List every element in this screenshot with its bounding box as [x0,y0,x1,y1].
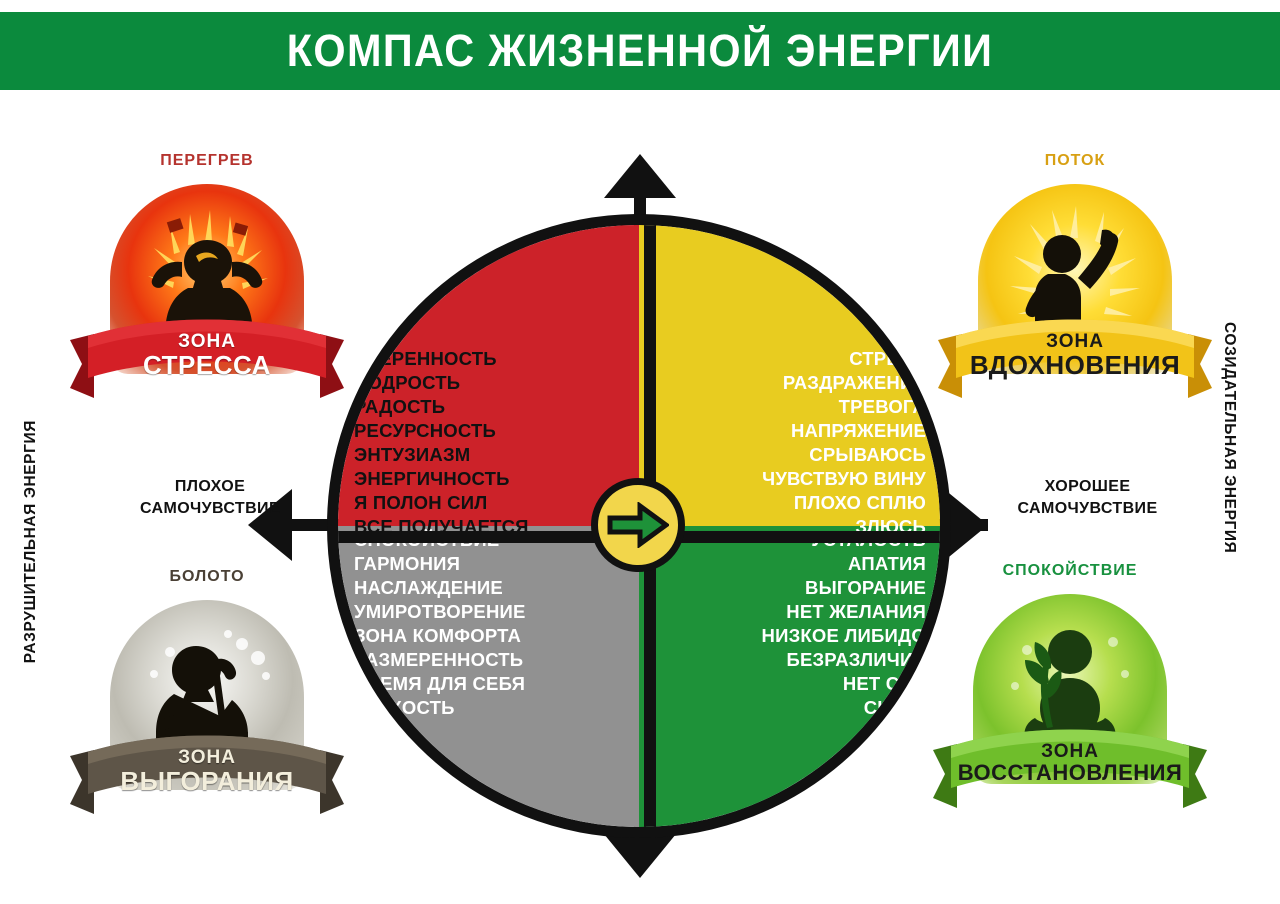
green-right-arrow-icon [607,502,669,548]
badge-graphic-recovery: ЗОНА ВОССТАНОВЛЕНИЯ [925,588,1215,818]
ribbon-recovery: ЗОНА ВОССТАНОВЛЕНИЯ [931,724,1209,816]
list-item: НАПРЯЖЕНИЕ [762,419,926,443]
badge-stress: ПЕРЕГРЕВ [62,152,352,408]
badge-caption-overheat: ПЕРЕГРЕВ [62,152,352,170]
badge-graphic-stress: ЗОНА СТРЕССА [62,178,352,408]
list-item: БОДРОСТЬ [354,371,529,395]
axis-label-destructive-energy: РАЗРУШИТЕЛЬНАЯ ЭНЕРГИЯ [22,420,40,663]
list-item: СРЫВАЮСЬ [762,443,926,467]
badge-inspiration: ПОТОК [930,152,1220,408]
badge-caption-calm: СПОКОЙСТВИЕ [925,562,1215,580]
word-list-recovery: СПОКОЙСТВИЕ ГАРМОНИЯ НАСЛАЖДЕНИЕ УМИРОТВ… [354,528,526,720]
list-item: АПАТИЯ [762,552,926,576]
axis-end-bad-line2: САМОЧУВСТВИЕ [130,498,290,520]
axis-end-good-line1: ХОРОШЕЕ [1000,476,1175,498]
list-item: СТРЕСС [762,347,926,371]
list-item: УМИРОТВОРЕНИЕ [354,600,526,624]
badge-burnout: БОЛОТО [62,568,352,824]
badge-graphic-burnout: ЗОНА ВЫГОРАНИЯ [62,594,352,824]
axis-end-good-line2: САМОЧУВСТВИЕ [1000,498,1175,520]
ribbon-burnout: ЗОНА ВЫГОРАНИЯ [68,730,346,822]
list-item: ЭНЕРГИЧНОСТЬ [354,467,529,491]
list-item: СКУКА [762,696,926,720]
center-hub [591,478,685,572]
list-item: НАСЛАЖДЕНИЕ [354,576,526,600]
list-item: НЕТ ЖЕЛАНИЯ [762,600,926,624]
word-list-stress: СТРЕСС РАЗДРАЖЕНИЕ ТРЕВОГА НАПРЯЖЕНИЕ СР… [762,347,926,539]
axis-end-label-bad: ПЛОХОЕ САМОЧУВСТВИЕ [130,476,290,519]
list-item: ЛЕГКОСТЬ [354,696,526,720]
list-item: ЗОНА КОМФОРТА [354,624,526,648]
list-item: Я ПОЛОН СИЛ [354,491,529,515]
header-banner: КОМПАС ЖИЗНЕННОЙ ЭНЕРГИИ [0,12,1280,90]
infographic-stage: РАЗРУШИТЕЛЬНАЯ ЭНЕРГИЯ СОЗИДАТЕЛЬНАЯ ЭНЕ… [0,90,1280,904]
list-item: ПЛОХО СПЛЮ [762,491,926,515]
list-item: РАЗМЕРЕННОСТЬ [354,648,526,672]
axis-arrow-down-icon [604,834,676,878]
list-item: ЧУВСТВУЮ ВИНУ [762,467,926,491]
list-item: РАЗДРАЖЕНИЕ [762,371,926,395]
list-item: НЕТ СИЛ [762,672,926,696]
page-title: КОМПАС ЖИЗНЕННОЙ ЭНЕРГИИ [287,25,994,77]
list-item: ТРЕВОГА [762,395,926,419]
word-list-burnout: УСТАЛОСТЬ АПАТИЯ ВЫГОРАНИЕ НЕТ ЖЕЛАНИЯ Н… [762,528,926,720]
list-item: РАДОСТЬ [354,395,529,419]
list-item: БЕЗРАЗЛИЧИЕ [762,648,926,672]
list-item: НИЗКОЕ ЛИБИДО [762,624,926,648]
axis-arrow-up-icon [604,154,676,198]
list-item: ВРЕМЯ ДЛЯ СЕБЯ [354,672,526,696]
list-item: РЕСУРСНОСТЬ [354,419,529,443]
axis-end-label-good: ХОРОШЕЕ САМОЧУВСТВИЕ [1000,476,1175,519]
list-item: ГАРМОНИЯ [354,552,526,576]
axis-end-bad-line1: ПЛОХОЕ [130,476,290,498]
axis-label-creative-energy: СОЗИДАТЕЛЬНАЯ ЭНЕРГИЯ [1220,322,1238,553]
badge-recovery: СПОКОЙСТВИЕ [925,562,1215,818]
badge-graphic-inspiration: ЗОНА ВДОХНОВЕНИЯ [930,178,1220,408]
list-item: ВЫГОРАНИЕ [762,576,926,600]
ribbon-inspiration: ЗОНА ВДОХНОВЕНИЯ [936,314,1214,406]
ribbon-stress: ЗОНА СТРЕССА [68,314,346,406]
badge-caption-flow: ПОТОК [930,152,1220,170]
badge-caption-swamp: БОЛОТО [62,568,352,586]
list-item: УВЕРЕННОСТЬ [354,347,529,371]
word-list-inspiration: УВЕРЕННОСТЬ БОДРОСТЬ РАДОСТЬ РЕСУРСНОСТЬ… [354,347,529,539]
list-item: ЭНТУЗИАЗМ [354,443,529,467]
